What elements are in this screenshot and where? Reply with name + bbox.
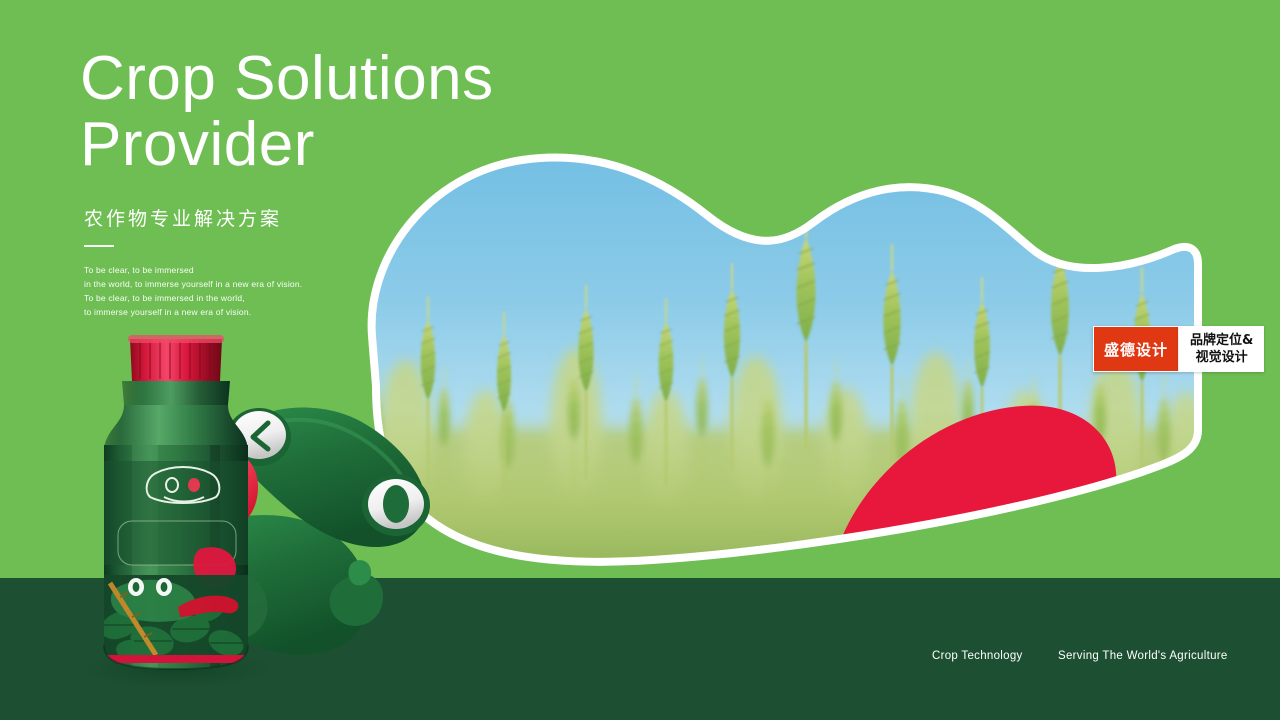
service-badge[interactable]: 品牌定位& 视觉设计	[1179, 326, 1264, 372]
studio-badge[interactable]: 盛德设计	[1093, 326, 1179, 372]
frog-eye-right	[362, 474, 430, 536]
poster-canvas: Crop Solutions Provider 农作物专业解决方案 To be …	[0, 0, 1280, 720]
bottle-cap	[130, 339, 222, 381]
bottle	[97, 335, 248, 669]
product-svg	[60, 325, 440, 690]
bottle-illustration	[97, 575, 248, 664]
hero-blob-svg	[336, 130, 1216, 580]
hero-photo-content	[336, 130, 1216, 580]
product-shot: 亿田丰 YITIANFENG 农药登记证号：PD20180536 农药生产许可证…	[60, 325, 440, 690]
badge-group: 盛德设计 品牌定位& 视觉设计	[1093, 326, 1264, 372]
divider-rule	[84, 245, 114, 247]
hero-image-blob	[336, 130, 1216, 580]
service-badge-line2: 视觉设计	[1190, 349, 1253, 366]
service-badge-line1: 品牌定位&	[1190, 332, 1253, 349]
bottle-shoulder	[104, 405, 248, 449]
bottle-neck	[122, 381, 230, 405]
footer-label-left: Crop Technology	[932, 650, 1023, 662]
footer-label-right: Serving The World's Agriculture	[1058, 650, 1228, 662]
